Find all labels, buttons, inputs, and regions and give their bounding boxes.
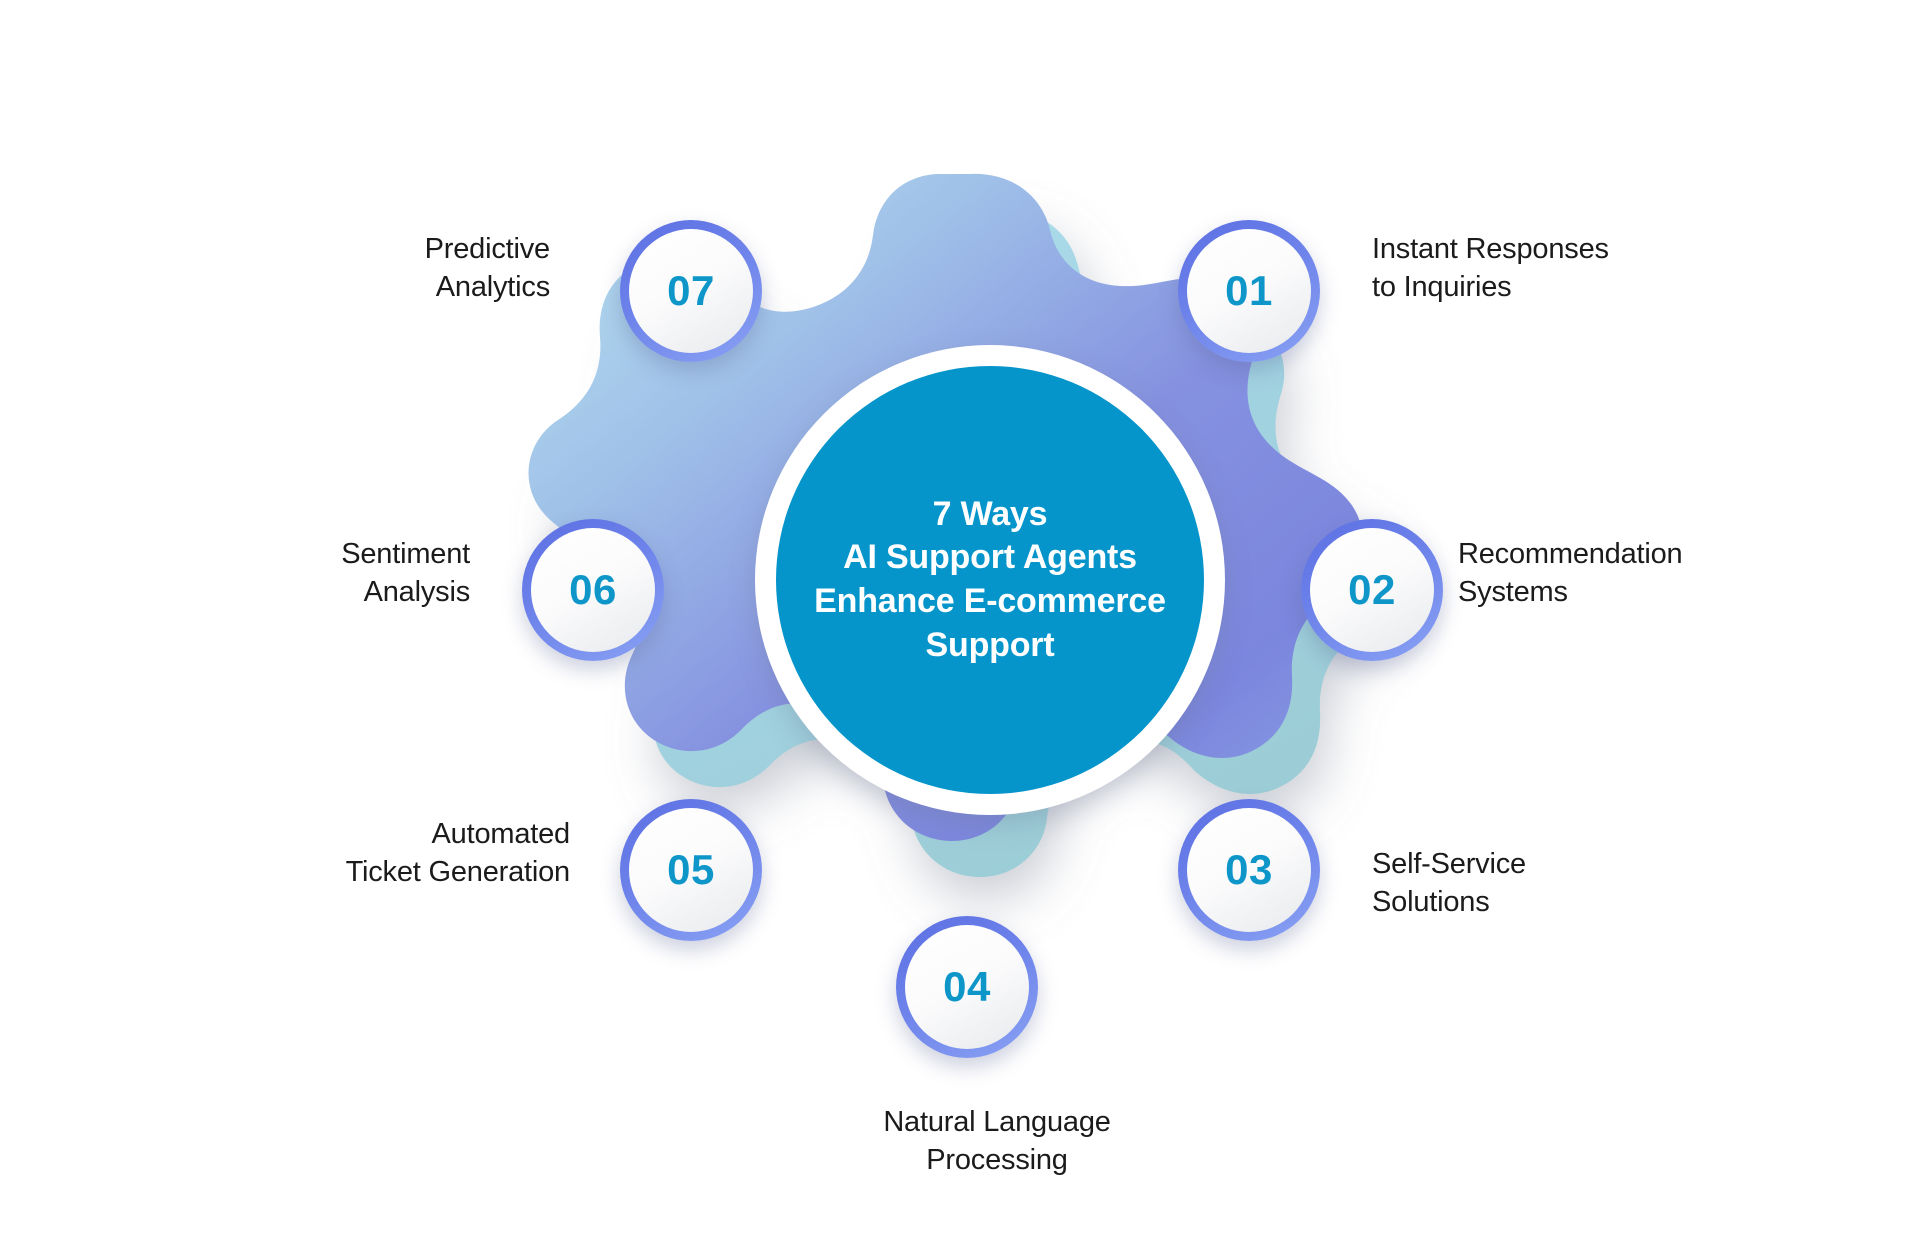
node-06[interactable]: 06 — [522, 519, 664, 661]
node-04-number: 04 — [943, 963, 991, 1011]
node-04-face: 04 — [905, 925, 1029, 1049]
node-06-label: Sentiment Analysis — [110, 535, 470, 612]
node-03[interactable]: 03 — [1178, 799, 1320, 941]
node-07-label: Predictive Analytics — [180, 230, 550, 307]
node-02-number: 02 — [1348, 566, 1396, 614]
node-03-label: Self-Service Solutions — [1372, 845, 1792, 922]
node-07[interactable]: 07 — [620, 220, 762, 362]
center-title: 7 Ways AI Support Agents Enhance E-comme… — [798, 493, 1182, 667]
node-04[interactable]: 04 — [896, 916, 1038, 1058]
node-06-face: 06 — [531, 528, 655, 652]
node-07-face: 07 — [629, 229, 753, 353]
node-05-label: Automated Ticket Generation — [110, 815, 570, 892]
node-01-number: 01 — [1225, 267, 1273, 315]
node-02-label: Recommendation Systems — [1458, 535, 1878, 612]
node-01-face: 01 — [1187, 229, 1311, 353]
node-01[interactable]: 01 — [1178, 220, 1320, 362]
node-05-number: 05 — [667, 846, 715, 894]
node-03-number: 03 — [1225, 846, 1273, 894]
node-02-face: 02 — [1310, 528, 1434, 652]
infographic-canvas: 7 Ways AI Support Agents Enhance E-comme… — [0, 0, 1920, 1237]
node-01-label: Instant Responses to Inquiries — [1372, 230, 1792, 307]
node-03-face: 03 — [1187, 808, 1311, 932]
gear-wheel-stage: 7 Ways AI Support Agents Enhance E-comme… — [0, 0, 1920, 1237]
node-07-number: 07 — [667, 267, 715, 315]
node-05-face: 05 — [629, 808, 753, 932]
center-hub: 7 Ways AI Support Agents Enhance E-comme… — [755, 345, 1225, 815]
node-02[interactable]: 02 — [1301, 519, 1443, 661]
node-04-label: Natural Language Processing — [712, 1103, 1282, 1180]
center-hub-disc: 7 Ways AI Support Agents Enhance E-comme… — [776, 366, 1204, 794]
node-06-number: 06 — [569, 566, 617, 614]
node-05[interactable]: 05 — [620, 799, 762, 941]
